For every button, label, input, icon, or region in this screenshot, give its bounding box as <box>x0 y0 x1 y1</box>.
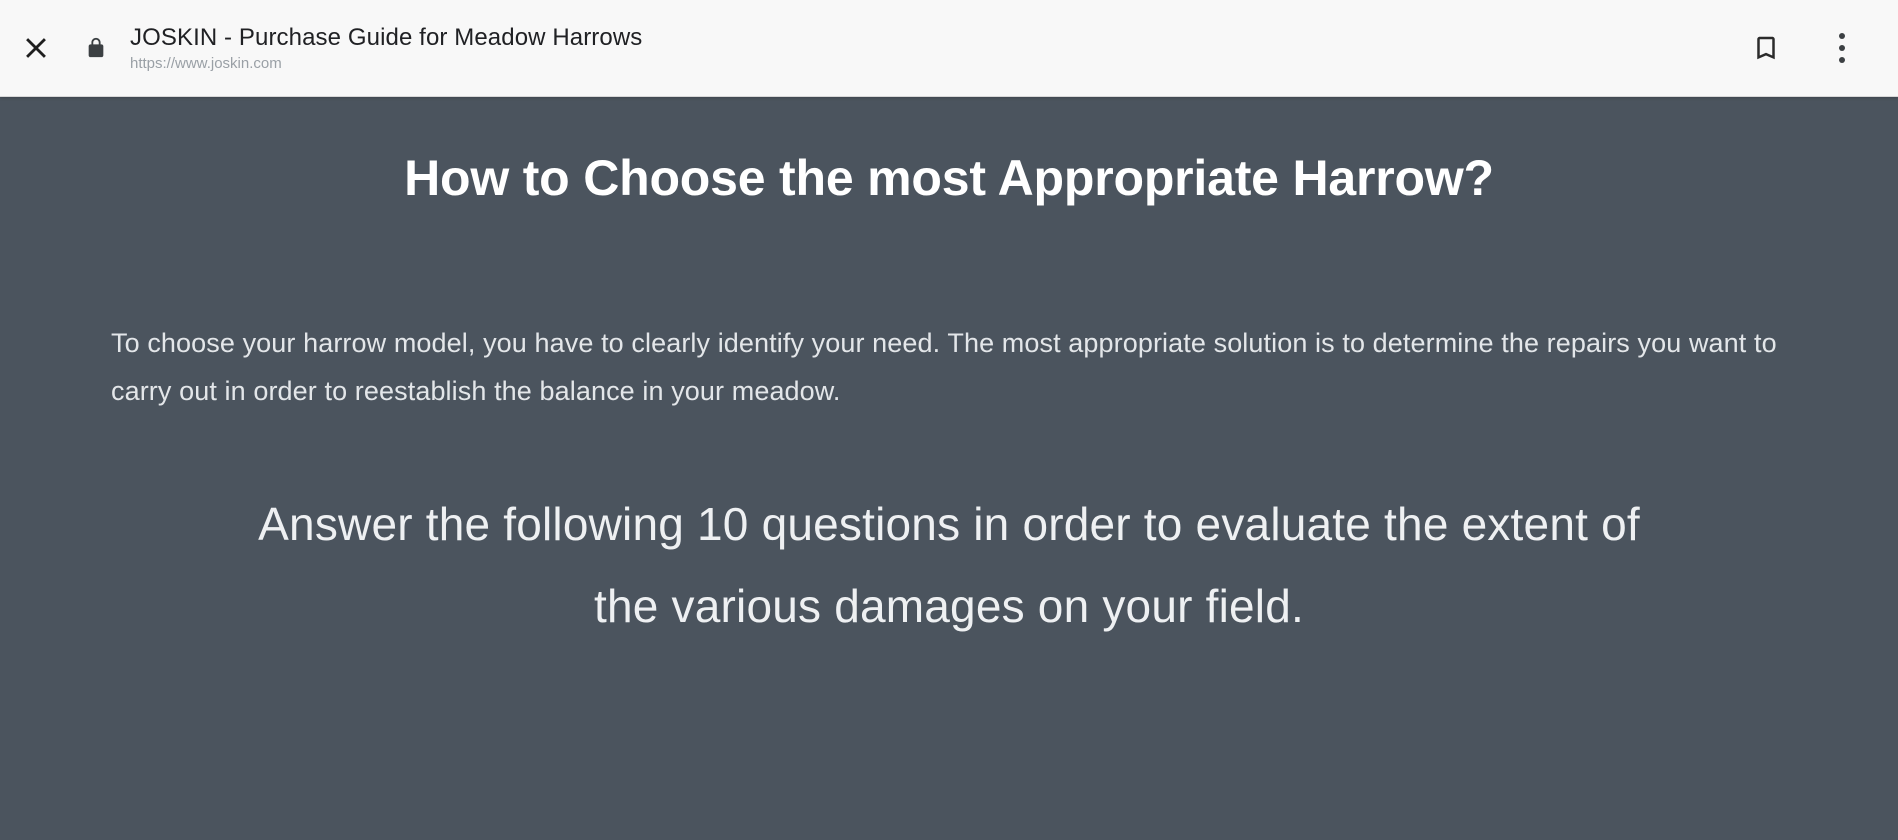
close-button[interactable] <box>0 0 72 97</box>
intro-paragraph: To choose your harrow model, you have to… <box>99 207 1799 415</box>
callout-text: Answer the following 10 questions in ord… <box>239 415 1659 647</box>
close-icon <box>19 31 53 65</box>
page-url: https://www.joskin.com <box>130 55 1728 72</box>
toolbar-actions <box>1728 0 1898 97</box>
web-page-content: How to Choose the most Appropriate Harro… <box>0 97 1898 840</box>
more-vertical-icon <box>1839 33 1845 63</box>
browser-toolbar: JOSKIN - Purchase Guide for Meadow Harro… <box>0 0 1898 97</box>
content-heading: How to Choose the most Appropriate Harro… <box>0 97 1898 207</box>
bookmark-button[interactable] <box>1728 0 1804 97</box>
overflow-menu-button[interactable] <box>1804 0 1880 97</box>
page-title: JOSKIN - Purchase Guide for Meadow Harro… <box>130 24 1728 52</box>
page-info[interactable]: JOSKIN - Purchase Guide for Meadow Harro… <box>120 24 1728 72</box>
bookmark-icon <box>1751 31 1781 65</box>
lock-icon <box>85 35 107 61</box>
security-indicator[interactable] <box>72 0 120 97</box>
